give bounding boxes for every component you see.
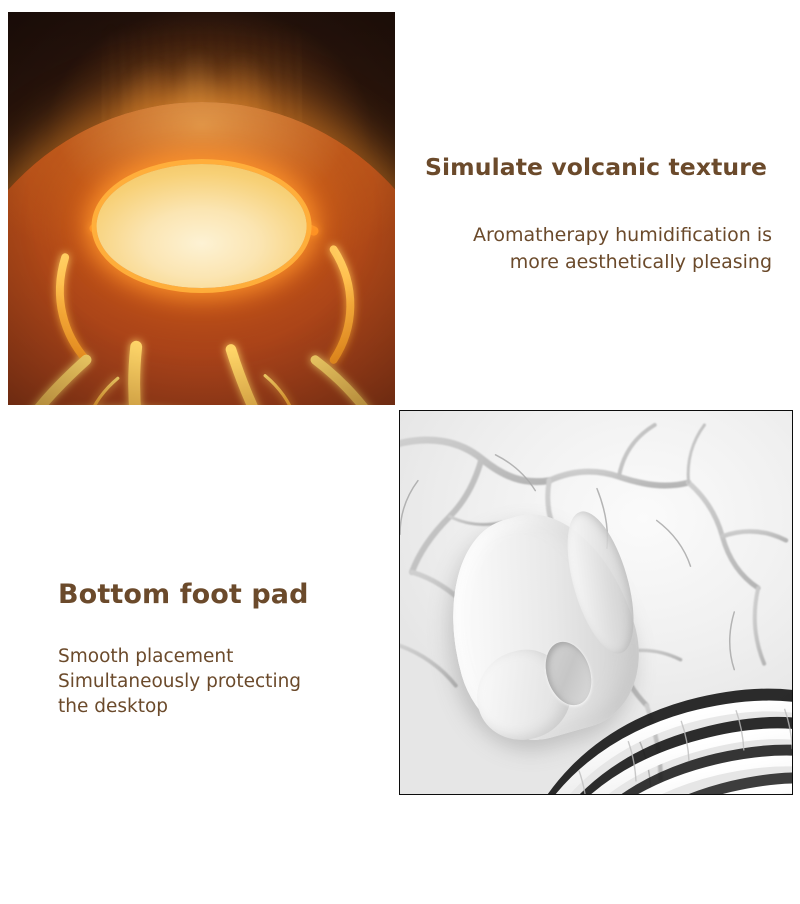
- volcano-subtitle-line-2: more aesthetically pleasing: [420, 249, 772, 276]
- footpad-headline: Bottom foot pad: [58, 578, 398, 612]
- footpad-subtitle-line-3: the desktop: [58, 694, 398, 719]
- footpad-subtitle: Smooth placement Simultaneously protecti…: [58, 612, 398, 720]
- volcano-text-block: Simulate volcanic texture Aromatherapy h…: [420, 152, 772, 275]
- volcano-body: [8, 102, 395, 405]
- footpad-text-block: Bottom foot pad Smooth placement Simulta…: [58, 578, 398, 720]
- footpad-subtitle-line-1: Smooth placement: [58, 644, 398, 669]
- volcano-product-image: [8, 12, 395, 405]
- glowing-mist-outlet: [96, 164, 307, 288]
- volcano-subtitle-line-1: Aromatherapy humidification is: [420, 222, 772, 249]
- volcano-headline: Simulate volcanic texture: [420, 152, 772, 183]
- product-feature-page: Simulate volcanic texture Aromatherapy h…: [0, 0, 800, 904]
- footpad-subtitle-line-2: Simultaneously protecting: [58, 669, 398, 694]
- footpad-product-image: [399, 410, 793, 795]
- volcano-subtitle: Aromatherapy humidification is more aest…: [420, 183, 772, 276]
